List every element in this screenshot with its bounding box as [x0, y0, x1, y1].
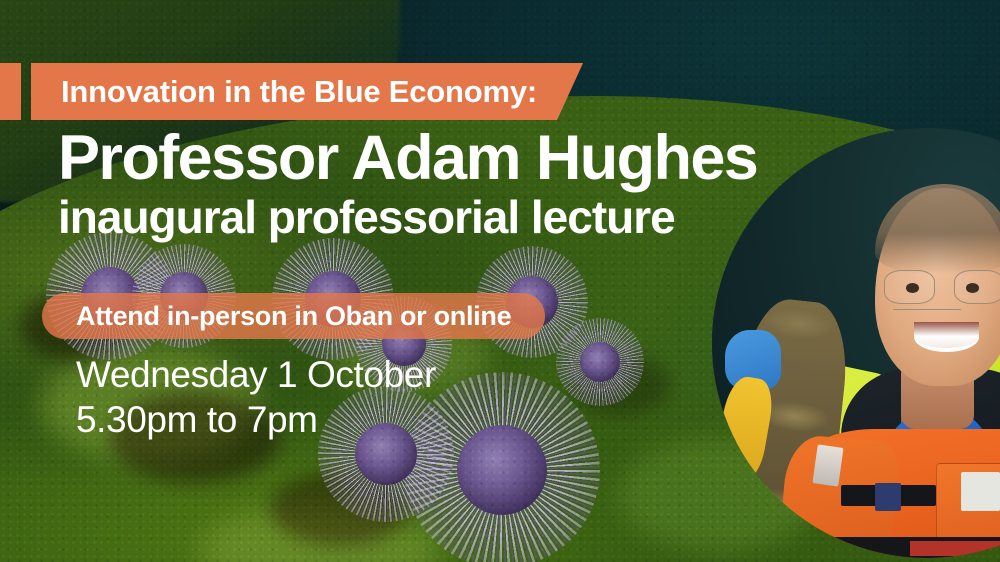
waist-strap-red	[910, 541, 1000, 556]
event-series-banner: Innovation in the Blue Economy:	[31, 63, 583, 120]
glasses-icon	[884, 270, 1000, 304]
event-date: Wednesday 1 October	[76, 352, 436, 397]
attendance-badge: Attend in-person in Oban or online	[42, 293, 545, 339]
event-schedule: Wednesday 1 October 5.30pm to 7pm	[76, 352, 436, 442]
lifejacket-label	[961, 472, 1000, 511]
lifejacket-buckle	[875, 483, 901, 511]
lecture-subtitle: inaugural professorial lecture	[58, 192, 818, 243]
smile	[914, 322, 979, 352]
banner-eyebrow-text: Innovation in the Blue Economy:	[61, 76, 537, 107]
speaker-name: Professor Adam Hughes	[58, 126, 818, 190]
event-poster: DENSYSTEM Innovation in the Bl	[0, 0, 1000, 562]
attendance-badge-label: Attend in-person in Oban or online	[76, 303, 511, 330]
banner-accent-tab	[0, 63, 21, 120]
page-title: Professor Adam Hughes inaugural professo…	[58, 126, 818, 243]
event-time: 5.30pm to 7pm	[76, 397, 436, 442]
glasses-bridge	[893, 309, 962, 311]
